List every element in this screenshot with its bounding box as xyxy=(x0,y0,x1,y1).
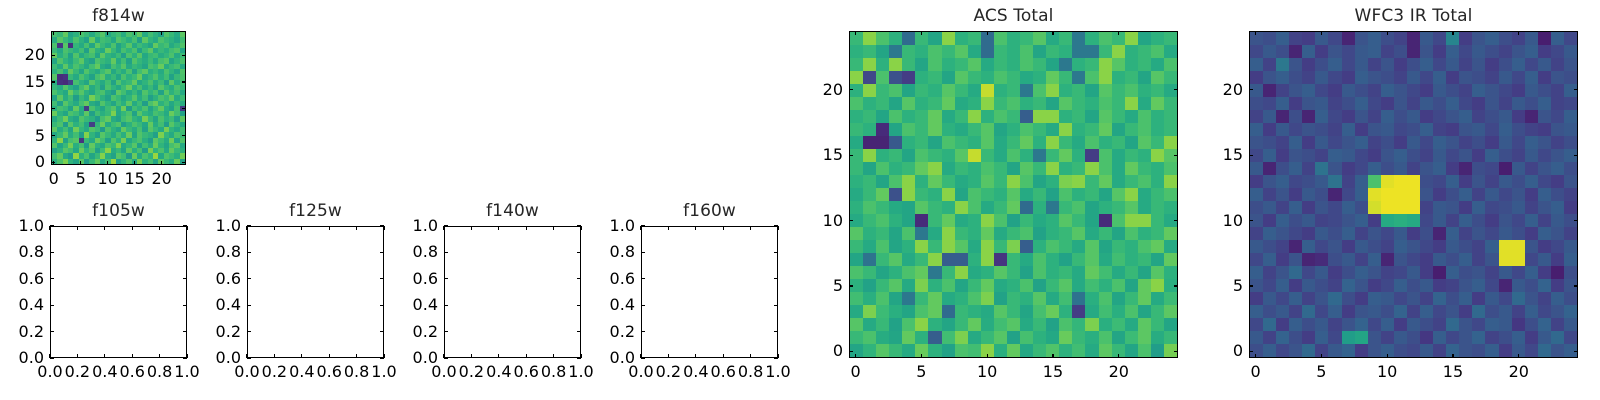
heatmap-cell xyxy=(1394,110,1407,123)
heatmap-cell xyxy=(902,97,915,110)
heatmap-cell xyxy=(1085,344,1098,357)
heatmap-cell xyxy=(1472,344,1485,357)
heatmap-cell xyxy=(1085,84,1098,97)
heatmap-cell xyxy=(1112,279,1125,292)
heatmap-cell xyxy=(1289,214,1302,227)
heatmap-cell xyxy=(942,318,955,331)
heatmap-cell xyxy=(876,214,889,227)
x-tick-label: 20 xyxy=(1091,362,1147,381)
heatmap-cell xyxy=(1512,227,1525,240)
heatmap-cell xyxy=(1485,110,1498,123)
heatmap-cell xyxy=(1072,253,1085,266)
heatmap-cell xyxy=(1525,318,1538,331)
heatmap-cell xyxy=(1551,58,1564,71)
heatmap-cell xyxy=(1020,279,1033,292)
heatmap-cell xyxy=(1538,45,1551,58)
heatmap-cell xyxy=(889,149,902,162)
heatmap-cell xyxy=(1368,136,1381,149)
heatmap-cell xyxy=(863,227,876,240)
heatmap-cell xyxy=(863,344,876,357)
x-tick xyxy=(750,226,751,230)
heatmap-cell xyxy=(1072,240,1085,253)
x-tick-label: 15 xyxy=(1425,362,1481,381)
heatmap-cell xyxy=(942,58,955,71)
heatmap-cell xyxy=(1407,214,1420,227)
heatmap-cell xyxy=(1485,84,1498,97)
heatmap-cell xyxy=(863,32,876,45)
heatmap-cell xyxy=(1342,240,1355,253)
heatmap-cell xyxy=(1368,214,1381,227)
heatmap-cell xyxy=(1499,227,1512,240)
heatmap-cell xyxy=(863,162,876,175)
panel-title: ACS Total xyxy=(849,6,1178,26)
panel-title: f814w xyxy=(51,6,186,26)
heatmap-cell xyxy=(968,227,981,240)
heatmap-cell xyxy=(1085,214,1098,227)
heatmap-cell xyxy=(1138,123,1151,136)
heatmap-cell xyxy=(1020,84,1033,97)
heatmap-cell xyxy=(1302,318,1315,331)
heatmap-cell xyxy=(1381,227,1394,240)
heatmap-cell xyxy=(1033,266,1046,279)
heatmap-cell xyxy=(889,110,902,123)
x-tick xyxy=(107,31,108,35)
heatmap-cell xyxy=(1328,32,1341,45)
heatmap-cell xyxy=(1020,110,1033,123)
heatmap-cell xyxy=(1564,331,1577,344)
heatmap-cell xyxy=(1368,123,1381,136)
heatmap-cell xyxy=(1125,279,1138,292)
heatmap-cell xyxy=(1472,110,1485,123)
heatmap-cell xyxy=(1007,162,1020,175)
heatmap-cell xyxy=(1302,110,1315,123)
heatmap-cell xyxy=(1551,71,1564,84)
heatmap-cell xyxy=(1420,240,1433,253)
heatmap-cell xyxy=(981,227,994,240)
heatmap-cell xyxy=(1112,253,1125,266)
heatmap-cell xyxy=(1459,175,1472,188)
heatmap-cell xyxy=(1485,123,1498,136)
heatmap-cell xyxy=(1250,201,1263,214)
heatmap-cell xyxy=(1164,253,1177,266)
heatmap-cell xyxy=(1394,253,1407,266)
heatmap-cell xyxy=(876,58,889,71)
heatmap-cell xyxy=(981,240,994,253)
heatmap-cell xyxy=(1472,292,1485,305)
heatmap-cell xyxy=(1302,253,1315,266)
heatmap-cell xyxy=(1446,123,1459,136)
heatmap-cell xyxy=(1164,305,1177,318)
heatmap-cell xyxy=(981,305,994,318)
heatmap-cell xyxy=(889,71,902,84)
heatmap-cell xyxy=(1099,201,1112,214)
heatmap-cell xyxy=(1315,84,1328,97)
heatmap-cell xyxy=(994,266,1007,279)
heatmap-cell xyxy=(850,110,863,123)
heatmap-cell xyxy=(1059,240,1072,253)
heatmap-cell xyxy=(1472,162,1485,175)
heatmap-cell xyxy=(1446,201,1459,214)
heatmap-cell xyxy=(1302,201,1315,214)
heatmap-cell xyxy=(1342,318,1355,331)
x-tick xyxy=(723,354,724,358)
heatmap-cell xyxy=(850,136,863,149)
heatmap-cell xyxy=(1020,58,1033,71)
heatmap-cell xyxy=(981,71,994,84)
heatmap-cell xyxy=(1525,84,1538,97)
heatmap-cell xyxy=(942,279,955,292)
heatmap-cell xyxy=(1512,123,1525,136)
heatmap-cell xyxy=(1276,292,1289,305)
x-tick xyxy=(80,31,81,35)
heatmap-cell xyxy=(902,279,915,292)
x-tick xyxy=(1255,354,1256,358)
heatmap-cell xyxy=(1125,175,1138,188)
heatmap-cell xyxy=(1033,344,1046,357)
heatmap-cell xyxy=(1381,318,1394,331)
heatmap-cell xyxy=(1420,71,1433,84)
heatmap-cell xyxy=(1125,201,1138,214)
heatmap-cell xyxy=(1433,227,1446,240)
heatmap-cell xyxy=(994,188,1007,201)
heatmap-cell xyxy=(1250,136,1263,149)
heatmap-cell xyxy=(928,136,941,149)
heatmap-cell xyxy=(1499,201,1512,214)
y-tick xyxy=(51,55,55,56)
heatmap-cell xyxy=(1007,45,1020,58)
heatmap-cell xyxy=(942,344,955,357)
heatmap-cell xyxy=(1289,331,1302,344)
heatmap-cell xyxy=(863,45,876,58)
heatmap-cell xyxy=(1250,97,1263,110)
heatmap-cell xyxy=(863,253,876,266)
heatmap-cell xyxy=(1420,227,1433,240)
heatmap-cell xyxy=(1564,227,1577,240)
heatmap-cell xyxy=(1276,110,1289,123)
heatmap-cell xyxy=(1059,344,1072,357)
heatmap-cell xyxy=(1512,201,1525,214)
heatmap-cell xyxy=(1433,149,1446,162)
heatmap-cell xyxy=(968,201,981,214)
heatmap-cell xyxy=(1538,162,1551,175)
heatmap-cell xyxy=(1407,175,1420,188)
heatmap-cell xyxy=(1099,253,1112,266)
heatmap-cell xyxy=(1407,136,1420,149)
heatmap-cell xyxy=(1446,149,1459,162)
heatmap-cell xyxy=(1276,188,1289,201)
heatmap-cell xyxy=(1072,175,1085,188)
heatmap-cell xyxy=(876,32,889,45)
heatmap-cell xyxy=(1459,123,1472,136)
heatmap-cell xyxy=(1433,214,1446,227)
heatmap-cell xyxy=(876,45,889,58)
heatmap-cell xyxy=(1020,201,1033,214)
heatmap-cell xyxy=(1302,175,1315,188)
heatmap-cell xyxy=(1355,110,1368,123)
heatmap-cell xyxy=(1099,175,1112,188)
y-tick xyxy=(50,252,54,253)
heatmap-cell xyxy=(1020,305,1033,318)
heatmap-cell xyxy=(928,58,941,71)
heatmap-cell xyxy=(1394,175,1407,188)
heatmap-cell xyxy=(1046,266,1059,279)
heatmap-cell xyxy=(1499,136,1512,149)
heatmap-cell xyxy=(1485,162,1498,175)
panel-title: WFC3 IR Total xyxy=(1249,6,1578,26)
heatmap-cell xyxy=(1020,175,1033,188)
heatmap-cell xyxy=(1342,136,1355,149)
heatmap-cell xyxy=(1538,58,1551,71)
heatmap-cell xyxy=(1407,240,1420,253)
heatmap-cell xyxy=(1433,292,1446,305)
heatmap-cell xyxy=(1485,227,1498,240)
heatmap-cell xyxy=(942,201,955,214)
heatmap-cell xyxy=(1368,84,1381,97)
y-tick xyxy=(1249,155,1253,156)
heatmap-cell xyxy=(1407,292,1420,305)
heatmap-cell xyxy=(1407,84,1420,97)
heatmap-cell xyxy=(915,136,928,149)
heatmap-cell xyxy=(1250,227,1263,240)
y-tick xyxy=(50,278,54,279)
heatmap-cell xyxy=(1059,227,1072,240)
heatmap-cell xyxy=(1112,331,1125,344)
heatmap-cell xyxy=(1564,162,1577,175)
heatmap-cell xyxy=(1112,45,1125,58)
heatmap-cell xyxy=(1059,97,1072,110)
heatmap-cell xyxy=(1381,240,1394,253)
heatmap-cell xyxy=(915,162,928,175)
heatmap-cell xyxy=(1263,331,1276,344)
heatmap-cell xyxy=(1381,266,1394,279)
heatmap-cell xyxy=(1072,97,1085,110)
heatmap-cell xyxy=(1072,344,1085,357)
heatmap-cell xyxy=(1302,344,1315,357)
heatmap-cell xyxy=(1368,227,1381,240)
heatmap-cell xyxy=(1289,84,1302,97)
heatmap-cell xyxy=(1315,240,1328,253)
y-tick-label: 1.0 xyxy=(575,216,635,235)
heatmap-cell xyxy=(1033,97,1046,110)
heatmap-cell xyxy=(902,240,915,253)
heatmap-cell xyxy=(1151,227,1164,240)
heatmap-cell xyxy=(876,162,889,175)
x-tick xyxy=(107,161,108,165)
x-tick xyxy=(471,226,472,230)
heatmap-cell xyxy=(1472,149,1485,162)
heatmap-cell xyxy=(1485,32,1498,45)
y-tick-label: 0.6 xyxy=(0,269,44,288)
x-tick-label: 20 xyxy=(1491,362,1547,381)
heatmap-cell xyxy=(1485,344,1498,357)
heatmap-cell xyxy=(981,201,994,214)
y-tick xyxy=(182,135,186,136)
y-tick-label: 0 xyxy=(0,152,45,171)
heatmap-cell xyxy=(1342,266,1355,279)
heatmap-cell xyxy=(1263,45,1276,58)
heatmap-cell xyxy=(1433,188,1446,201)
heatmap-cell xyxy=(1059,318,1072,331)
heatmap-cell xyxy=(1485,318,1498,331)
heatmap-cell xyxy=(1302,149,1315,162)
heatmap-cell xyxy=(1551,188,1564,201)
heatmap-cell xyxy=(1020,71,1033,84)
y-tick-label: 1.0 xyxy=(0,216,44,235)
y-tick xyxy=(641,357,645,358)
heatmap-cell xyxy=(955,344,968,357)
heatmap-cell xyxy=(968,58,981,71)
heatmap-cell xyxy=(1381,305,1394,318)
heatmap-cell xyxy=(1525,266,1538,279)
heatmap-cell xyxy=(1472,71,1485,84)
heatmap-cell xyxy=(1085,45,1098,58)
heatmap-cell xyxy=(1033,175,1046,188)
y-tick-label: 5 xyxy=(1183,276,1243,295)
heatmap-cell xyxy=(1459,58,1472,71)
heatmap-cell xyxy=(1368,162,1381,175)
heatmap-cell xyxy=(1551,110,1564,123)
x-tick xyxy=(855,354,856,358)
heatmap-cell xyxy=(889,266,902,279)
heatmap-cell xyxy=(1033,58,1046,71)
heatmap-cell xyxy=(1033,84,1046,97)
heatmap-cell xyxy=(955,188,968,201)
heatmap-cell xyxy=(994,97,1007,110)
heatmap-cell xyxy=(1289,136,1302,149)
heatmap-cell xyxy=(942,97,955,110)
heatmap-cell xyxy=(915,84,928,97)
heatmap-cell xyxy=(889,227,902,240)
heatmap-cell xyxy=(1263,136,1276,149)
heatmap-cell xyxy=(1315,58,1328,71)
heatmap-cell xyxy=(1355,58,1368,71)
heatmap-cell xyxy=(876,331,889,344)
heatmap-cell xyxy=(1099,318,1112,331)
x-tick xyxy=(132,226,133,230)
heatmap-cell xyxy=(1007,292,1020,305)
heatmap-cell xyxy=(1394,162,1407,175)
heatmap-cell xyxy=(1433,240,1446,253)
heatmap-cell xyxy=(902,344,915,357)
heatmap-cell xyxy=(1342,149,1355,162)
heatmap-cell xyxy=(1355,292,1368,305)
heatmap-cell xyxy=(1125,240,1138,253)
heatmap-cell xyxy=(1368,188,1381,201)
heatmap-cell xyxy=(1046,292,1059,305)
heatmap-grid xyxy=(850,32,1177,357)
heatmap-cell xyxy=(942,149,955,162)
heatmap-cell xyxy=(1564,45,1577,58)
heatmap-cell xyxy=(1112,149,1125,162)
heatmap-cell xyxy=(863,318,876,331)
heatmap-cell xyxy=(1551,292,1564,305)
heatmap-cell xyxy=(1072,58,1085,71)
heatmap-cell xyxy=(942,84,955,97)
heatmap-cell xyxy=(1381,292,1394,305)
heatmap-cell xyxy=(1538,136,1551,149)
heatmap-cell xyxy=(863,84,876,97)
heatmap-cell xyxy=(1564,123,1577,136)
heatmap-cell xyxy=(1525,162,1538,175)
heatmap-cell xyxy=(1289,71,1302,84)
heatmap-cell xyxy=(1368,149,1381,162)
heatmap-cell xyxy=(850,227,863,240)
heatmap-cell xyxy=(1446,253,1459,266)
heatmap-cell xyxy=(955,201,968,214)
panel-title: f140w xyxy=(444,201,581,221)
heatmap-cell xyxy=(1125,227,1138,240)
heatmap-cell xyxy=(1538,240,1551,253)
x-tick xyxy=(132,354,133,358)
heatmap-cell xyxy=(1368,32,1381,45)
heatmap-cell xyxy=(1551,149,1564,162)
heatmap-cell xyxy=(1355,214,1368,227)
heatmap-cell xyxy=(1138,136,1151,149)
heatmap-cell xyxy=(1459,227,1472,240)
heatmap-cell xyxy=(1263,240,1276,253)
heatmap-cell xyxy=(1276,201,1289,214)
heatmap-cell xyxy=(1302,188,1315,201)
heatmap-cell xyxy=(1164,97,1177,110)
heatmap-cell xyxy=(1564,318,1577,331)
heatmap-cell xyxy=(1046,110,1059,123)
heatmap-cell xyxy=(1125,318,1138,331)
heatmap-cell xyxy=(1472,331,1485,344)
heatmap-cell xyxy=(1512,214,1525,227)
heatmap-cell xyxy=(1112,58,1125,71)
heatmap-cell xyxy=(902,45,915,58)
heatmap-cell xyxy=(1250,45,1263,58)
heatmap-cell xyxy=(1289,162,1302,175)
heatmap-cell xyxy=(1072,292,1085,305)
y-tick-label: 1.0 xyxy=(378,216,438,235)
heatmap-cell xyxy=(850,84,863,97)
heatmap-cell xyxy=(994,136,1007,149)
heatmap-cell xyxy=(1499,214,1512,227)
heatmap-cell xyxy=(1302,58,1315,71)
heatmap-cell xyxy=(876,279,889,292)
heatmap-cell xyxy=(1138,240,1151,253)
heatmap-cell xyxy=(1381,149,1394,162)
heatmap-cell xyxy=(1151,149,1164,162)
heatmap-cell xyxy=(1250,32,1263,45)
heatmap-cell xyxy=(1072,331,1085,344)
heatmap-cell xyxy=(1164,136,1177,149)
heatmap-cell xyxy=(1420,136,1433,149)
heatmap-cell xyxy=(1394,58,1407,71)
heatmap-cell xyxy=(1459,149,1472,162)
heatmap-cell xyxy=(1046,84,1059,97)
heatmap-cell xyxy=(915,227,928,240)
heatmap-cell xyxy=(1525,175,1538,188)
heatmap-cell xyxy=(1289,123,1302,136)
heatmap-cell xyxy=(1342,84,1355,97)
heatmap-cell xyxy=(1263,110,1276,123)
heatmap-cell xyxy=(1007,227,1020,240)
heatmap-cell xyxy=(1099,344,1112,357)
heatmap-cell xyxy=(1072,318,1085,331)
heatmap-cell xyxy=(1420,292,1433,305)
heatmap-cell xyxy=(876,175,889,188)
heatmap-cell xyxy=(1525,201,1538,214)
heatmap-cell xyxy=(1112,123,1125,136)
heatmap-cell xyxy=(942,253,955,266)
heatmap-cell xyxy=(1164,45,1177,58)
heatmap-cell xyxy=(1512,97,1525,110)
heatmap-cell xyxy=(1433,318,1446,331)
heatmap-cell xyxy=(1564,32,1577,45)
heatmap-cell xyxy=(1328,201,1341,214)
